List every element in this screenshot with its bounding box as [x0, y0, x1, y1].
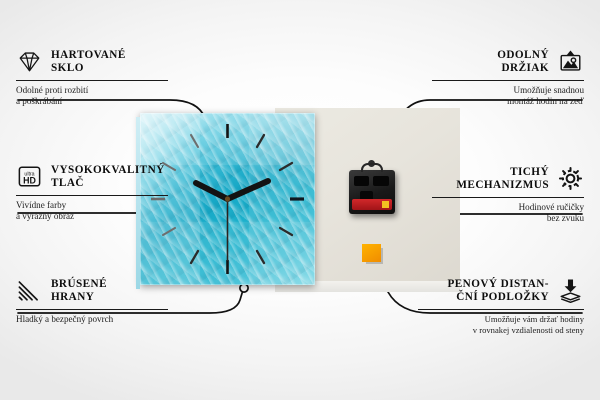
desc-line-1: Umožňuje vám držať hodiny [485, 314, 584, 324]
battery [352, 199, 392, 210]
desc-line-1: Odolné proti rozbití [16, 85, 88, 95]
title-line-2: HRANY [51, 291, 94, 303]
feature-title: BRÚSENÉ HRANY [51, 278, 107, 303]
title-line-2: TLAČ [51, 177, 84, 189]
divider [418, 309, 584, 310]
product-photo [140, 108, 460, 290]
feature-header: HARTOVANÉ SKLO [16, 48, 168, 75]
mechanism-hanger [361, 163, 383, 172]
title-line-1: HARTOVANÉ [51, 49, 126, 61]
feature-header: ultra HD VYSOKOKVALITNÝ TLAČ [16, 163, 168, 190]
feature-silent-mechanism: TICHÝ MECHANIZMUS Hodinové ručičky bez z… [432, 165, 584, 224]
title-line-1: PENOVÝ DISTAN- [447, 278, 549, 290]
desc-line-2: bez zvuku [547, 213, 584, 223]
feature-header: PENOVÝ DISTAN- ČNÍ PODLOŽKY [418, 277, 584, 304]
divider [16, 309, 168, 310]
desc-line-1: Vivídne farby [16, 200, 66, 210]
title-line-2: DRŽIAK [502, 62, 549, 74]
divider [432, 197, 584, 198]
feature-title: PENOVÝ DISTAN- ČNÍ PODLOŽKY [447, 278, 549, 303]
desc-line-2: a poškrábání [16, 96, 62, 106]
desc-line-2: v rovnakej vzdialenosti od steny [473, 325, 584, 335]
desc-line-2: montáž hodin na zeď [507, 96, 584, 106]
polished-edges-icon [16, 277, 43, 304]
feature-description: Odolné proti rozbití a poškrábání [16, 85, 168, 107]
feature-title: ODOLNÝ DRŽIAK [497, 49, 549, 74]
feature-description: Umožňuje vám držať hodiny v rovnakej vzd… [418, 314, 584, 336]
title-line-2: SKLO [51, 62, 84, 74]
desc-line-1: Hodinové ručičky [519, 202, 584, 212]
title-line-1: BRÚSENÉ [51, 278, 107, 290]
desc-line-1: Umožňuje snadnou [514, 85, 584, 95]
press-layers-icon [557, 277, 584, 304]
ultra-hd-icon: ultra HD [16, 163, 43, 190]
foam-spacer-pad [362, 244, 381, 262]
title-line-1: ODOLNÝ [497, 49, 549, 61]
divider [16, 80, 168, 81]
feature-tempered-glass: HARTOVANÉ SKLO Odolné proti rozbití a po… [16, 48, 168, 107]
title-line-1: VYSOKOKVALITNÝ [51, 164, 165, 176]
feature-header: TICHÝ MECHANIZMUS [432, 165, 584, 192]
divider [432, 80, 584, 81]
feature-header: ODOLNÝ DRŽIAK [432, 48, 584, 75]
feature-description: Hladký a bezpečný povrch [16, 314, 168, 325]
title-line-2: ČNÍ PODLOŽKY [456, 291, 549, 303]
feature-title: HARTOVANÉ SKLO [51, 49, 126, 74]
mechanism-slot [373, 176, 389, 186]
infographic-canvas: HARTOVANÉ SKLO Odolné proti rozbití a po… [0, 0, 600, 400]
title-line-1: TICHÝ [510, 166, 549, 178]
feature-description: Umožňuje snadnou montáž hodin na zeď [432, 85, 584, 107]
wall-frame-hook-icon [557, 48, 584, 75]
mechanism-slot [354, 176, 369, 186]
feature-title: VYSOKOKVALITNÝ TLAČ [51, 164, 165, 189]
feature-title: TICHÝ MECHANIZMUS [456, 166, 549, 191]
feature-durable-holder: ODOLNÝ DRŽIAK Umožňuje snadnou montáž ho… [432, 48, 584, 107]
diamond-icon [16, 48, 43, 75]
feature-header: BRÚSENÉ HRANY [16, 277, 168, 304]
svg-text:HD: HD [23, 175, 36, 185]
gear-icon [557, 165, 584, 192]
desc-line-2: a výrazný obraz [16, 211, 74, 221]
title-line-2: MECHANIZMUS [456, 179, 549, 191]
feature-high-quality-print: ultra HD VYSOKOKVALITNÝ TLAČ Vivídne far… [16, 163, 168, 222]
feature-description: Vivídne farby a výrazný obraz [16, 200, 168, 222]
divider [16, 195, 168, 196]
feature-description: Hodinové ručičky bez zvuku [432, 202, 584, 224]
feature-polished-edges: BRÚSENÉ HRANY Hladký a bezpečný povrch [16, 277, 168, 325]
desc-line-1: Hladký a bezpečný povrch [16, 314, 113, 324]
clock-mechanism [349, 170, 395, 214]
feature-foam-spacers: PENOVÝ DISTAN- ČNÍ PODLOŽKY Umožňuje vám… [418, 277, 584, 336]
